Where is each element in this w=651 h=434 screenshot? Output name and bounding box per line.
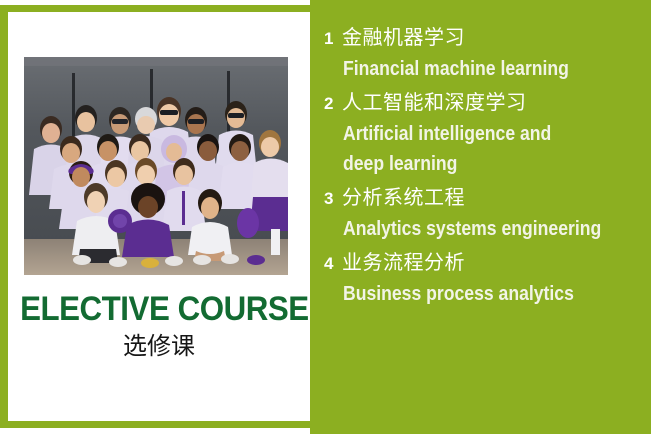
course-number: 4 — [324, 249, 342, 279]
course-name-zh: 人工智能和深度学习 — [342, 87, 527, 117]
title-block: ELECTIVE COURSE 选修课 — [8, 290, 310, 362]
course-heading-row: 4 业务流程分析 — [324, 247, 643, 279]
course-name-en-line: Analytics systems engineering — [343, 214, 607, 244]
list-item: 2 人工智能和深度学习 Artificial intelligence and … — [324, 87, 643, 179]
list-item: 1 金融机器学习 Financial machine learning — [324, 22, 643, 84]
page-subtitle: 选修课 — [8, 330, 310, 362]
poster-root: 1 金融机器学习 Financial machine learning 2 人工… — [0, 0, 651, 434]
course-number: 2 — [324, 89, 342, 119]
course-list: 1 金融机器学习 Financial machine learning 2 人工… — [324, 22, 643, 312]
list-item: 3 分析系统工程 Analytics systems engineering — [324, 182, 643, 244]
group-photo — [24, 57, 288, 275]
course-name-zh: 业务流程分析 — [342, 247, 465, 277]
course-heading-row: 1 金融机器学习 — [324, 22, 643, 54]
course-heading-row: 3 分析系统工程 — [324, 182, 643, 214]
course-name-zh: 分析系统工程 — [342, 182, 465, 212]
course-name-en-line: deep learning — [343, 149, 607, 179]
course-list-panel: 1 金融机器学习 Financial machine learning 2 人工… — [310, 0, 651, 434]
list-item: 4 业务流程分析 Business process analytics — [324, 247, 643, 309]
course-name-zh: 金融机器学习 — [342, 22, 465, 52]
elective-course-card: ELECTIVE COURSE 选修课 — [0, 5, 310, 428]
course-name-en-line: Financial machine learning — [343, 54, 607, 84]
course-number: 3 — [324, 184, 342, 214]
course-name-en-line: Business process analytics — [343, 279, 607, 309]
course-name-en-line: Artificial intelligence and — [343, 119, 607, 149]
page-title: ELECTIVE COURSE — [20, 290, 298, 328]
course-number: 1 — [324, 24, 342, 54]
course-heading-row: 2 人工智能和深度学习 — [324, 87, 643, 119]
